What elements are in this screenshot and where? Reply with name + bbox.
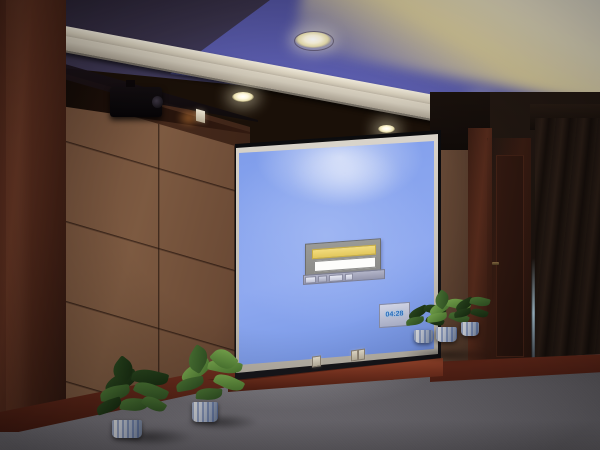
wall-outlet-3[interactable] — [358, 349, 365, 361]
plant-pot-right-2 — [436, 327, 457, 342]
taskbar-button-1[interactable] — [305, 276, 316, 284]
plant-pot-left — [112, 420, 142, 438]
wood-pilaster-left — [0, 0, 66, 450]
room-scene: 04:28 — [0, 0, 600, 450]
door-panel — [496, 155, 524, 357]
wall-outlet-2[interactable] — [351, 350, 358, 362]
taskbar-button-4[interactable] — [345, 273, 353, 281]
downlight-1-rim — [294, 31, 334, 51]
projector-hotspot — [290, 142, 400, 204]
wall-outlet-1[interactable] — [312, 355, 321, 367]
taskbar-button-3[interactable] — [329, 274, 343, 282]
door-handle[interactable] — [492, 262, 499, 265]
clock-time: 04:28 — [386, 310, 404, 319]
projector-lens-icon — [152, 96, 163, 108]
plant-pot-right-1 — [414, 330, 433, 343]
taskbar-button-2[interactable] — [318, 275, 327, 283]
plant-shadow-right — [404, 348, 490, 362]
downlight-3 — [378, 125, 395, 133]
wall-plate — [196, 109, 205, 124]
plant-pot-right-3 — [461, 322, 479, 336]
plant-pot-left-center — [192, 402, 218, 422]
downlight-2 — [232, 92, 254, 102]
